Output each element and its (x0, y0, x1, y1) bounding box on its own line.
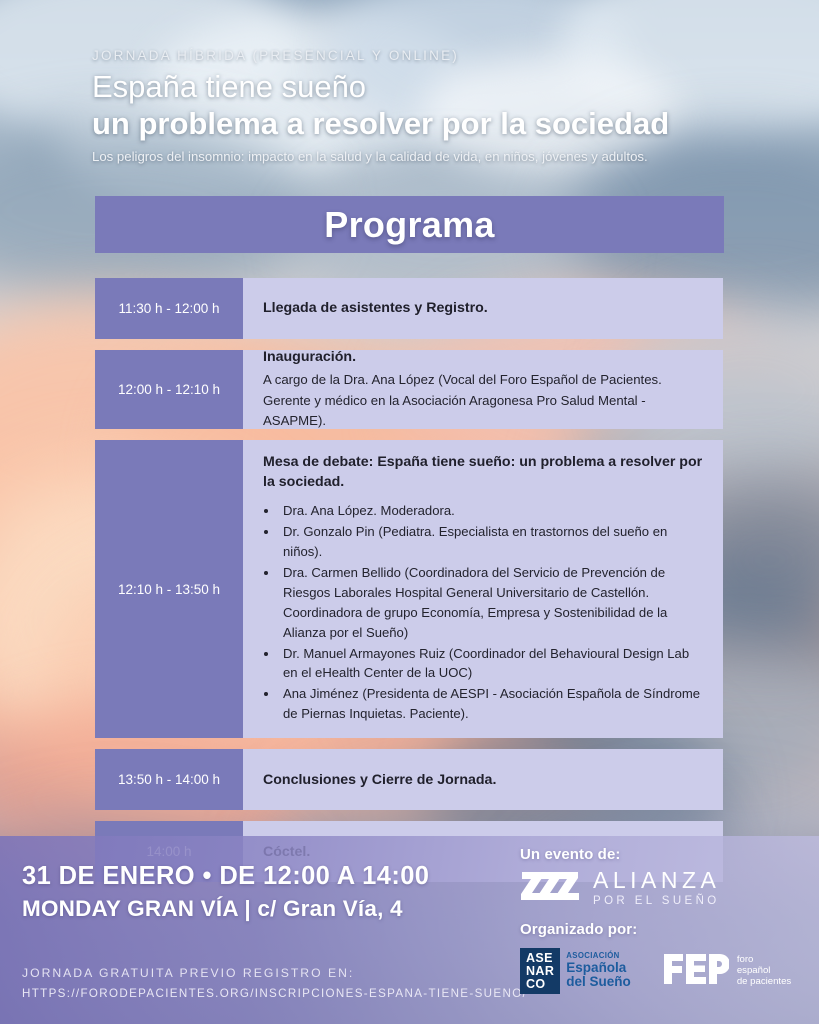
list-item: Dr. Manuel Armayones Ruiz (Coordinador d… (279, 644, 705, 684)
fep-wordmark: foro español de pacientes (737, 955, 791, 988)
programa-banner-label: Programa (324, 204, 494, 246)
alianza-name: ALIANZA (593, 869, 720, 892)
list-item: Dra. Ana López. Moderadora. (279, 501, 705, 521)
poster-header: JORNADA HÍBRIDA (PRESENCIAL Y ONLINE) Es… (92, 48, 752, 164)
registration-info: JORNADA GRATUITA PREVIO REGISTRO EN: HTT… (22, 966, 527, 1000)
list-item: Dr. Gonzalo Pin (Pediatra. Especialista … (279, 522, 705, 562)
row-content: Llegada de asistentes y Registro. (243, 278, 723, 339)
asenarco-mark: ASE NAR CO (520, 948, 560, 994)
table-row: 11:30 h - 12:00 h Llegada de asistentes … (95, 278, 723, 339)
programa-banner: Programa (95, 196, 724, 253)
page-title-line1: España tiene sueño (92, 69, 752, 106)
row-heading: Llegada de asistentes y Registro. (263, 298, 705, 318)
fep-mark-icon (663, 952, 729, 991)
list-item: Ana Jiménez (Presidenta de AESPI - Asoci… (279, 684, 705, 724)
organizer-logos: ASE NAR CO ASOCIACIÓN Española del Sueño (520, 948, 805, 994)
table-row: 12:10 h - 13:50 h Mesa de debate: España… (95, 440, 723, 738)
alianza-wordmark: ALIANZA POR EL SUEÑO (593, 869, 720, 908)
event-venue: MONDAY GRAN VÍA | c/ Gran Vía, 4 (22, 894, 429, 924)
footer-event-details: 31 DE ENERO • DE 12:00 A 14:00 MONDAY GR… (22, 860, 429, 923)
footer-logos: Un evento de: ALIANZA POR EL SUEÑO (520, 846, 805, 994)
row-time: 12:10 h - 13:50 h (95, 440, 243, 738)
organized-by-label: Organizado por: (520, 921, 805, 938)
asenarco-text-line3: del Sueño (566, 975, 631, 990)
registration-url[interactable]: HTTPS://FORODEPACIENTES.ORG/INSCRIPCIONE… (22, 987, 527, 1000)
asenarco-wordmark: ASOCIACIÓN Española del Sueño (566, 952, 631, 990)
alianza-tagline: POR EL SUEÑO (593, 896, 720, 908)
table-row: 12:00 h - 12:10 h Inauguración. A cargo … (95, 350, 723, 429)
row-heading: Inauguración. (263, 347, 705, 367)
speaker-list: Dra. Ana López. Moderadora. Dr. Gonzalo … (279, 501, 705, 725)
row-content: Mesa de debate: España tiene sueño: un p… (243, 440, 723, 738)
event-kicker: JORNADA HÍBRIDA (PRESENCIAL Y ONLINE) (92, 48, 752, 63)
asenarco-mark-line1: ASE (526, 952, 554, 965)
row-time: 13:50 h - 14:00 h (95, 749, 243, 810)
row-body: A cargo de la Dra. Ana López (Vocal del … (263, 370, 705, 430)
row-content: Inauguración. A cargo de la Dra. Ana Lóp… (243, 350, 723, 429)
alianza-logo: ALIANZA POR EL SUEÑO (520, 869, 805, 908)
table-row: 13:50 h - 14:00 h Conclusiones y Cierre … (95, 749, 723, 810)
row-heading: Mesa de debate: España tiene sueño: un p… (263, 452, 705, 492)
event-subtitle: Los peligros del insomnio: impacto en la… (92, 149, 752, 164)
program-table: 11:30 h - 12:00 h Llegada de asistentes … (95, 278, 723, 893)
row-time: 12:00 h - 12:10 h (95, 350, 243, 429)
zzz-icon (520, 869, 582, 908)
asenarco-logo: ASE NAR CO ASOCIACIÓN Española del Sueño (520, 948, 631, 994)
list-item: Dra. Carmen Bellido (Coordinadora del Se… (279, 563, 705, 643)
event-by-label: Un evento de: (520, 846, 805, 863)
registration-label: JORNADA GRATUITA PREVIO REGISTRO EN: (22, 966, 527, 980)
page-title-line2: un problema a resolver por la sociedad (92, 106, 752, 143)
asenarco-text-line2: Española (566, 961, 631, 976)
fep-text-line2: español (737, 966, 791, 977)
poster-footer: 31 DE ENERO • DE 12:00 A 14:00 MONDAY GR… (0, 836, 819, 1024)
fep-logo: foro español de pacientes (663, 952, 791, 991)
row-content: Conclusiones y Cierre de Jornada. (243, 749, 723, 810)
event-date: 31 DE ENERO • DE 12:00 A 14:00 (22, 860, 429, 894)
asenarco-mark-line2: NAR (526, 965, 554, 978)
row-heading: Conclusiones y Cierre de Jornada. (263, 770, 705, 790)
asenarco-mark-line3: CO (526, 978, 554, 991)
fep-text-line3: de pacientes (737, 977, 791, 988)
row-time: 11:30 h - 12:00 h (95, 278, 243, 339)
